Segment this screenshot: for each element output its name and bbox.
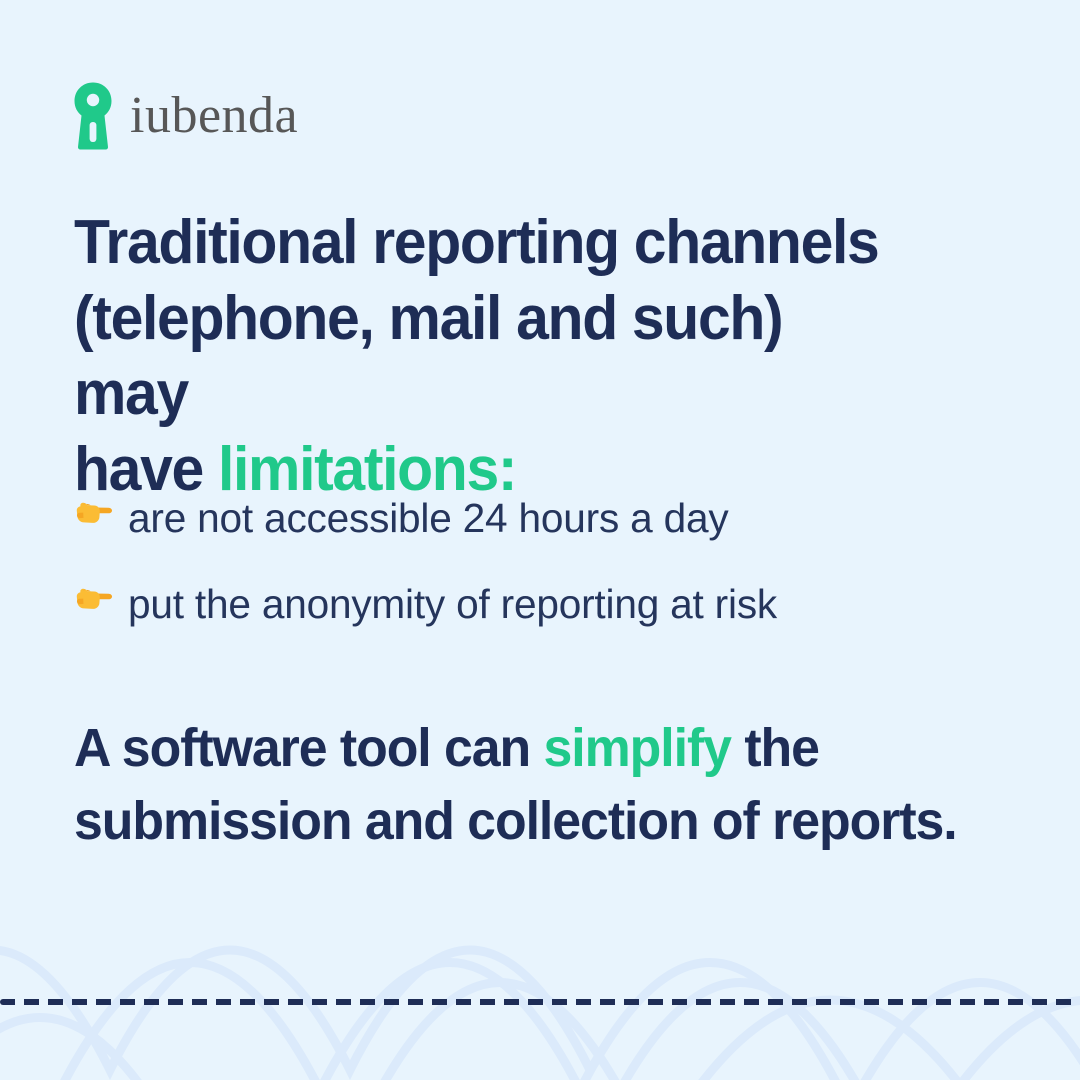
limitations-list: are not accessible 24 hours a day put th… <box>74 492 1014 664</box>
wave-pattern <box>0 820 1080 1080</box>
list-item: are not accessible 24 hours a day <box>74 492 1014 542</box>
brand-wordmark: iubenda <box>130 90 298 142</box>
headline-line-1: Traditional reporting channels <box>74 205 910 281</box>
list-item-label: are not accessible 24 hours a day <box>128 495 728 542</box>
closing-statement: A software tool can simplify the submiss… <box>74 712 996 858</box>
statement-part-1: A software tool can <box>74 718 544 778</box>
list-item: put the anonymity of reporting at risk <box>74 578 1014 628</box>
headline-line-2: (telephone, mail and such) may <box>74 281 910 432</box>
statement-accent-simplify: simplify <box>544 718 731 778</box>
list-item-label: put the anonymity of reporting at risk <box>128 581 777 628</box>
dashed-divider <box>0 999 1080 1005</box>
slide-canvas: iubenda Traditional reporting channels (… <box>0 0 1080 1080</box>
brand-logo: iubenda <box>72 82 298 150</box>
page-title: Traditional reporting channels (telephon… <box>74 205 910 508</box>
pointing-right-hand-emoji <box>74 578 114 618</box>
keyhole-icon <box>72 82 114 150</box>
pointing-right-hand-emoji <box>74 492 114 532</box>
